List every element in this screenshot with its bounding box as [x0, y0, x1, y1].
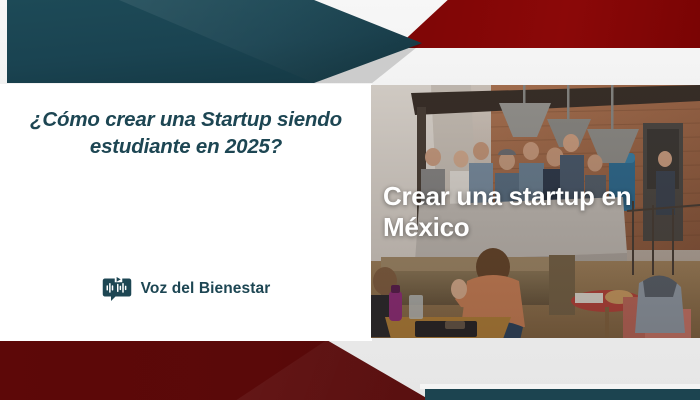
banner-canvas: ¿Cómo crear una Startup siendo estudiant… [0, 0, 700, 400]
brand-logo[interactable]: Voz del Bienestar [0, 274, 372, 304]
top-red-band [396, 0, 700, 48]
voice-bubble-icon [102, 274, 132, 304]
photo-overlay-title: Crear una startup en México [383, 181, 692, 243]
brand-name: Voz del Bienestar [141, 280, 271, 298]
page-title: ¿Cómo crear una Startup siendo estudiant… [14, 106, 358, 160]
title-card: ¿Cómo crear una Startup siendo estudiant… [0, 84, 372, 341]
bottom-teal-strip [425, 389, 700, 400]
photo-panel: Crear una startup en México [371, 85, 700, 338]
top-teal-chevron [7, 0, 422, 83]
bottom-red-chevron [0, 340, 430, 400]
